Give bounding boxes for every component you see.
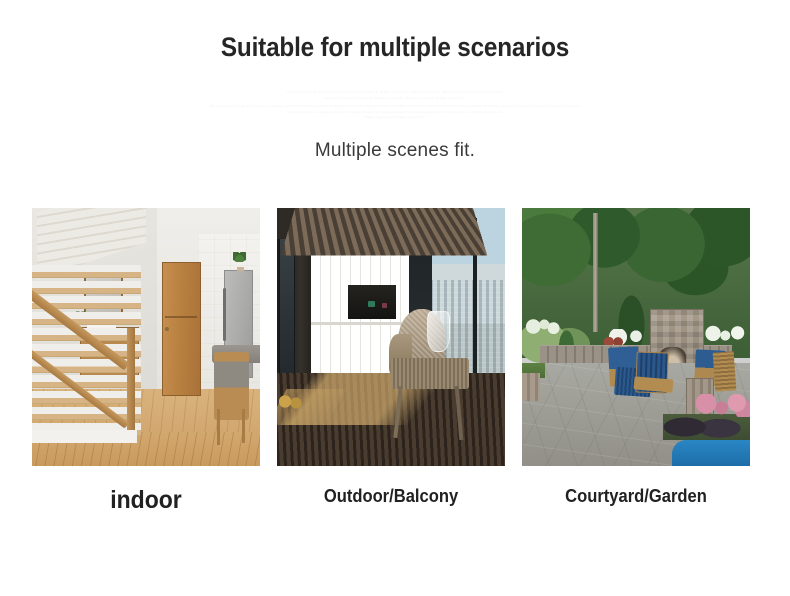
skirting-board <box>32 430 137 443</box>
patio-chair-back <box>712 352 735 392</box>
scene-caption-courtyard-garden: Courtyard/Garden <box>531 486 741 507</box>
scene-gallery <box>32 208 758 466</box>
scene-image-outdoor-balcony <box>277 208 505 466</box>
pink-flowers <box>695 394 750 417</box>
microcopy-line-5: Multiple scenarios fit. Multiple scenari… <box>0 115 790 121</box>
page-subtitle: Multiple scenes fit. <box>0 140 790 162</box>
lattice-ceiling <box>281 208 487 255</box>
wicker-chair-seat <box>391 358 469 389</box>
scene-card-outdoor-balcony[interactable] <box>277 208 505 466</box>
scene-caption-outdoor-balcony: Outdoor/Balcony <box>286 486 496 507</box>
chair-leg <box>242 409 245 443</box>
glass-vase <box>427 311 450 352</box>
microcopy-block: Multiple scenarios fit. Multiple scenari… <box>0 90 790 121</box>
scene-card-indoor[interactable] <box>32 208 260 466</box>
scene-caption-indoor: indoor <box>41 486 251 515</box>
scene-image-indoor <box>32 208 260 466</box>
white-flowers-right <box>704 324 745 345</box>
tree-trunk <box>593 213 598 332</box>
chair-leg <box>217 409 220 445</box>
plant-pot <box>237 267 244 271</box>
niche-object <box>382 303 387 308</box>
slide-root: Suitable for multiple scenarios Multiple… <box>0 0 790 596</box>
blue-cushion <box>672 440 750 466</box>
white-flowers-left <box>524 316 560 337</box>
staircase <box>32 265 141 440</box>
page-title: Suitable for multiple scenarios <box>40 32 751 63</box>
newel-post <box>127 328 135 430</box>
fallen-leaves <box>277 394 304 409</box>
scene-image-courtyard-garden <box>522 208 750 466</box>
plant-on-fridge-icon <box>233 252 246 262</box>
stone-pillar-left <box>522 373 540 401</box>
niche-object <box>368 301 375 307</box>
scene-card-courtyard-garden[interactable] <box>522 208 750 466</box>
planting-bed <box>663 414 750 440</box>
